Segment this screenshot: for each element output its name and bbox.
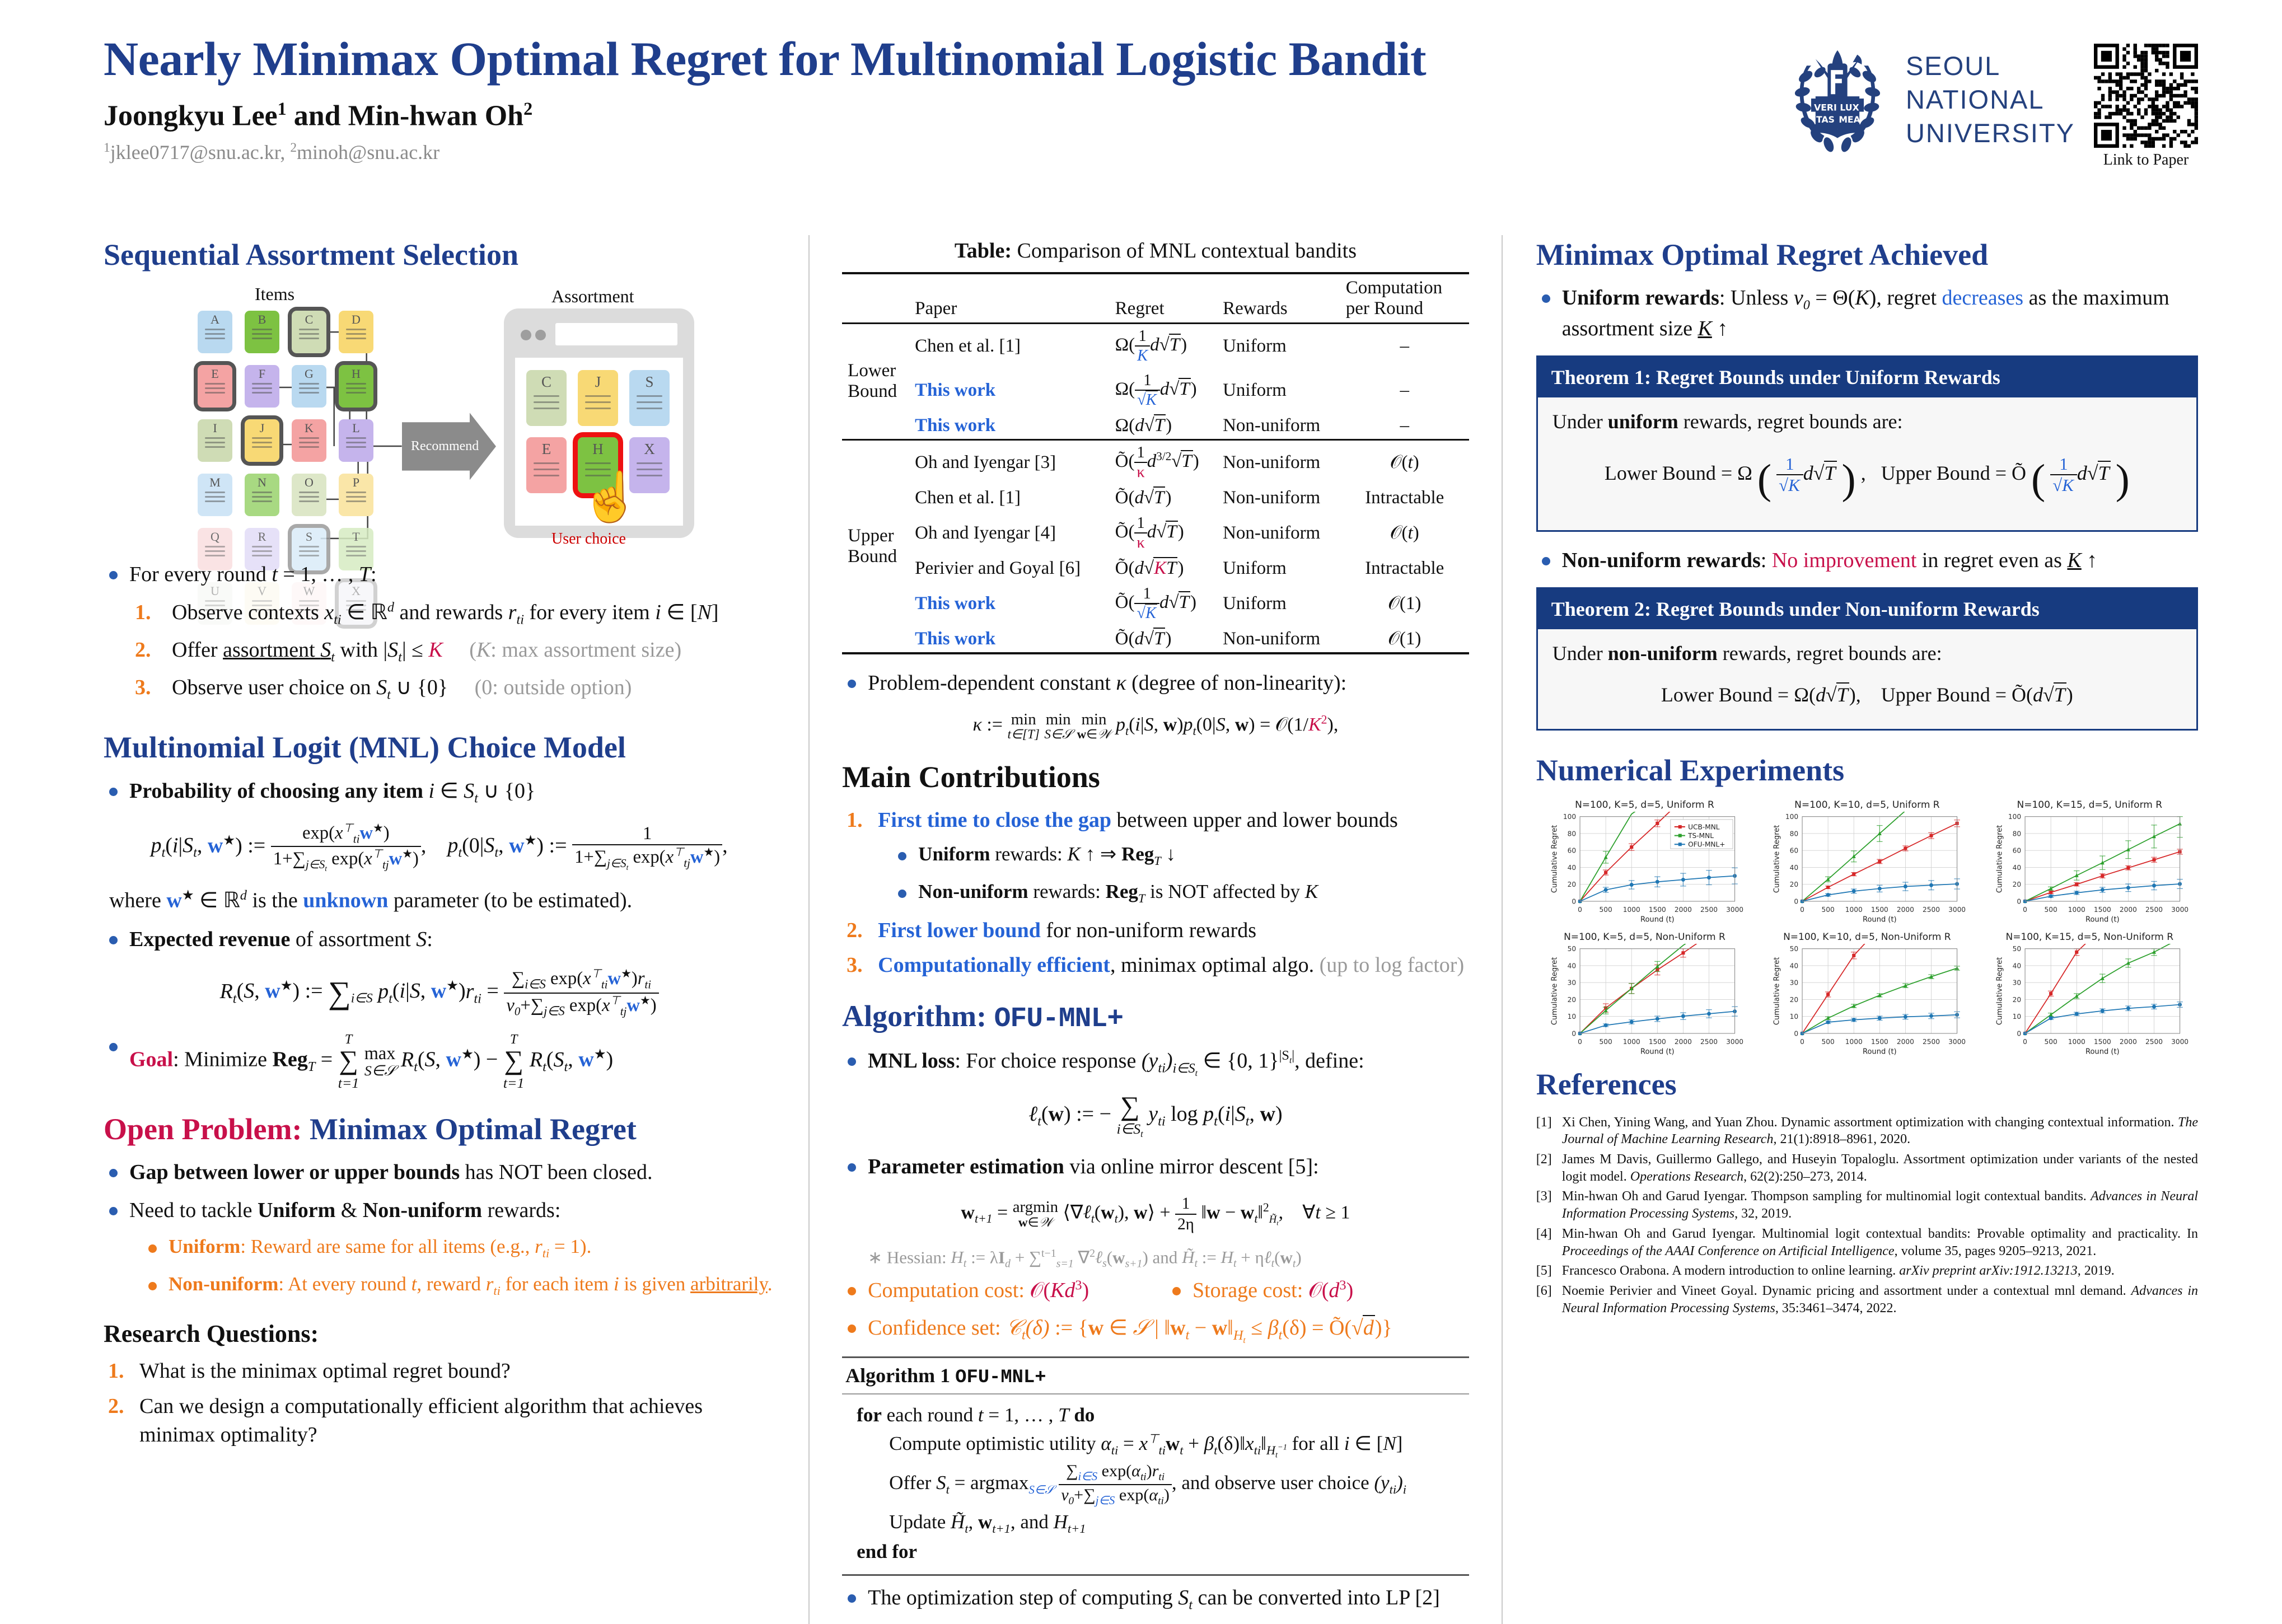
item-card-letter: O [305,476,314,489]
svg-text:3000: 3000 [2171,1038,2189,1046]
storage-cost-list: Storage cost: 𝒪(d3) [1167,1276,1469,1314]
item-card-line [346,500,366,502]
svg-text:1500: 1500 [2093,1038,2111,1046]
algorithm-box-title: Algorithm 1 OFU-MNL+ [842,1358,1469,1394]
svg-text:0: 0 [1578,1038,1582,1046]
computation-cost-list: Computation cost: 𝒪(Kd3) [842,1276,1144,1314]
cell-regret: Õ(d√T) [1110,626,1217,653]
item-card-line [299,492,319,493]
item-card-line [346,338,366,339]
item-card-line [299,392,319,394]
table-row: This work Õ(1√Kd√T) Uniform 𝒪(1) [842,582,1469,626]
hessian-note: ∗ Hessian: Ht := λId + ∑t−1s=1 ∇2ℓs(ws+1… [842,1247,1469,1271]
chart-panel: N=100, K=15, d=5, Non-Uniform R 01020304… [1981,932,2198,1056]
snu-logo: VERILUX TASMEA [1783,44,2075,156]
phone-dot-1 [521,330,531,340]
item-card-line [252,496,272,498]
svg-text:2500: 2500 [2145,1038,2163,1046]
round-step-item: Offer assortment St with |St| ≤ K (K: ma… [130,636,775,667]
item-card-line [299,442,319,443]
item-card-line [205,550,225,552]
svg-text:3000: 3000 [2171,906,2189,914]
chart-series [1801,944,1957,1035]
cell-regret: Ω(d√T) [1110,413,1217,440]
svg-text:2500: 2500 [1923,1038,1940,1046]
qr-caption: Link to Paper [2103,151,2189,169]
mnl-where-text: where w★ ∈ ℝd is the unknown parameter (… [104,887,775,913]
svg-text:Round (t): Round (t) [1863,1048,1897,1056]
open-problem-bullet-1: Gap between lower or upper bounds has NO… [104,1158,775,1187]
item-card-letter: K [305,422,314,434]
item-card-line [299,546,319,547]
table-header-regret: Regret [1110,273,1217,323]
svg-text:0: 0 [2023,1038,2027,1046]
svg-text:1000: 1000 [1845,1038,1863,1046]
item-card-line [346,383,366,385]
table-row: This work Ω(d√T) Non-uniform – [842,413,1469,440]
cell-rewards: Non-uniform [1217,511,1340,555]
svg-text:Round (t): Round (t) [1640,1048,1675,1056]
svg-text:VERI: VERI [1814,102,1837,113]
theorem-1-lead: Under uniform rewards, regret bounds are… [1552,410,2182,433]
table-row: Chen et al. [1] Õ(d√T) Non-uniform Intra… [842,485,1469,511]
item-card-letter: S [306,531,312,543]
algorithm-pseudocode-box: Algorithm 1 OFU-MNL+ for each round t = … [842,1356,1469,1576]
diagram-label-items: Items [255,284,294,305]
theorem-2-body: Under non-uniform rewards, regret bounds… [1538,629,2196,729]
assortment-card-line [534,408,559,409]
assortment-card-line [534,469,559,470]
item-card-line [299,437,319,439]
svg-text:20: 20 [1790,996,1798,1004]
table-caption: Table: Comparison of MNL contextual band… [842,238,1469,263]
assortment-card[interactable]: E [526,437,567,493]
logo-line-1: SEOUL [1906,49,2075,83]
svg-text:3000: 3000 [1726,906,1743,914]
reference-item: [6]Noemie Perivier and Vineet Goyal. Dyn… [1536,1283,2198,1317]
item-card-line [205,446,225,448]
section-title-main-contributions: Main Contributions [842,761,1469,794]
svg-text:Round (t): Round (t) [1640,916,1675,924]
item-card-letter: A [211,313,219,326]
contributions-list: First time to close the gap between uppe… [842,806,1469,980]
cell-rewards: Uniform [1217,555,1340,582]
svg-text:80: 80 [1567,830,1575,837]
chart-svg: 020406080100050010001500200025003000Roun… [1536,812,1753,924]
svg-text:40: 40 [1790,864,1798,872]
kappa-bullet: Problem-dependent constant κ (degree of … [842,669,1469,698]
chart-svg: 01020304050050010001500200025003000Round… [1981,944,2198,1056]
item-card-line [252,550,272,552]
header-text-block: Nearly Minimax Optimal Regret for Multin… [104,34,1783,164]
assortment-card[interactable]: J [578,370,618,426]
reference-item: [4]Min-hwan Oh and Garud Iyengar. Multin… [1536,1225,2198,1260]
section-title-references: References [1536,1068,2198,1101]
item-card-line [205,437,225,439]
item-card-line [346,446,366,448]
svg-text:Cumulative Regret: Cumulative Regret [1550,825,1559,893]
section-title-open-problem: Open Problem: Minimax Optimal Regret [104,1113,775,1146]
item-card-line [252,446,272,448]
table-body-upper-bound: UpperBound Oh and Iyengar [3] Õ(1κd3/2√T… [842,439,1469,653]
table-row: LowerBound Chen et al. [1] Ω(1Kd√T) Unif… [842,323,1469,368]
reference-number: [4] [1536,1225,1552,1243]
poster-header: Nearly Minimax Optimal Regret for Multin… [0,0,2282,235]
logo-line-3: UNIVERSITY [1906,116,2075,150]
item-card-letter: C [305,313,314,326]
cell-computation: 𝒪(1) [1340,626,1469,653]
column-left: Sequential Assortment Selection Items As… [104,235,808,1624]
formula-kappa: κ := mint∈[T] minS∈𝒮 minw∈𝒲 pt(i|S, w)pt… [842,710,1469,742]
nonuniform-rewards-list: Non-uniform rewards: No improvement in r… [1536,546,2198,575]
cell-computation: 𝒪(t) [1340,439,1469,484]
item-card[interactable]: J [245,419,279,462]
assortment-card-letter: J [595,373,601,391]
chart-title: N=100, K=10, d=5, Non-Uniform R [1759,932,1975,943]
item-card[interactable]: P [339,474,373,516]
research-question-item: What is the minimax optimal regret bound… [104,1357,775,1386]
item-card-line [346,442,366,443]
cell-paper: Chen et al. [1] [909,323,1109,368]
svg-text:1500: 1500 [1649,1038,1666,1046]
chart-series [1578,868,1737,903]
cell-computation: – [1340,323,1469,368]
table-header-row: Paper Regret Rewards Computation per Rou… [842,273,1469,323]
item-card-line [299,329,319,330]
item-card-line [205,329,225,330]
contribution-item: First lower bound for non-uniform reward… [842,916,1469,945]
svg-text:30: 30 [2012,979,2021,987]
table-header-paper: Paper [909,273,1109,323]
svg-text:0: 0 [1794,1030,1799,1038]
item-card-line [205,442,225,443]
confidence-set-list: Confidence set: 𝒞t(δ) := {w ∈ 𝒮 | ‖wt − … [842,1314,1469,1346]
svg-text:UCB-MNL: UCB-MNL [1688,823,1720,831]
item-card-line [299,387,319,389]
item-card-line [346,550,366,552]
item-card[interactable]: C [292,311,326,353]
theorem-1-body: Under uniform rewards, regret bounds are… [1538,397,2196,530]
table-row: This work Õ(d√T) Non-uniform 𝒪(1) [842,626,1469,653]
chart-series [2023,944,2180,1035]
svg-text:60: 60 [1567,847,1575,855]
item-card-line [299,333,319,335]
comparison-table: Paper Regret Rewards Computation per Rou… [842,272,1469,654]
formula-choice-probabilities: pt(i|St, w★) := exp(x⊤tiw★)1+∑j∈St exp(x… [104,821,775,874]
cell-regret: Õ(d√T) [1110,485,1217,511]
item-card-letter: J [260,422,265,434]
cell-computation: 𝒪(1) [1340,582,1469,626]
cell-paper: This work [909,626,1109,653]
item-card-line [252,437,272,439]
algorithm-title-name: OFU-MNL+ [994,1003,1123,1035]
alg-line-offer: Offer St = argmaxS∈𝒮 ∑i∈S exp(αti)rtiv0+… [857,1461,1466,1508]
chart-svg: 01020304050050010001500200025003000Round… [1536,944,1753,1056]
item-card[interactable]: N [245,474,279,516]
lp-note-bullet: The optimization step of computing St ca… [842,1584,1469,1614]
assortment-card-letter: S [645,373,653,391]
chart-series [2023,849,2183,903]
formula-mnl-loss: ℓt(w) := − ∑i∈St yti log pt(i|St, w) [842,1093,1469,1139]
cell-paper: This work [909,368,1109,413]
svg-text:0: 0 [1572,1030,1576,1038]
assortment-card-line [637,408,662,409]
svg-text:1000: 1000 [1622,906,1640,914]
cell-rewards: Non-uniform [1217,413,1340,440]
theorem-2-box: Theorem 2: Regret Bounds under Non-unifo… [1536,587,2198,731]
item-card[interactable]: D [339,311,373,353]
theorem-1-bounds: Lower Bound = Ω ( 1√Kd√T ) , Upper Bound… [1552,448,2182,511]
cell-paper: Oh and Iyengar [4] [909,511,1109,555]
reference-number: [2] [1536,1151,1552,1168]
item-card[interactable]: A [198,311,232,353]
item-card-line [299,446,319,448]
cell-rewards: Non-uniform [1217,485,1340,511]
svg-text:OFU-MNL+: OFU-MNL+ [1688,841,1725,849]
chart-panel: N=100, K=10, d=5, Non-Uniform R 01020304… [1759,932,1975,1056]
item-card-line [205,496,225,498]
alg-line-endfor: end for [857,1538,1466,1566]
item-card[interactable]: M [198,474,232,516]
section-title-sequential-assortment: Sequential Assortment Selection [104,238,775,272]
cell-regret: Õ(1√Kd√T) [1110,582,1217,626]
algorithm-box-name: OFU-MNL+ [955,1367,1046,1388]
cell-regret: Õ(1κd√T) [1110,511,1217,555]
item-card-line [346,329,366,330]
svg-text:Round (t): Round (t) [2085,916,2120,924]
svg-text:20: 20 [2012,881,2021,888]
alg-line-update: Update H̃t, wt+1, and Ht+1 [857,1508,1466,1538]
item-card-letter: L [352,422,359,434]
svg-text:1500: 1500 [2093,906,2111,914]
theorem-1-box: Theorem 1: Regret Bounds under Uniform R… [1536,355,2198,532]
assortment-card-line [637,462,662,464]
item-card-letter: F [259,368,265,380]
param-estimation-bullet-list: Parameter estimation via online mirror d… [842,1153,1469,1181]
svg-text:Cumulative Regret: Cumulative Regret [1550,957,1559,1025]
item-card-letter: Q [211,531,219,543]
qr-code-block[interactable]: Link to Paper [2094,44,2198,169]
item-card-line [299,500,319,502]
item-card-line [299,496,319,498]
reward-types-list: Uniform: Reward are same for all items (… [143,1234,775,1299]
item-card[interactable]: G [292,365,326,408]
item-card-line [299,550,319,552]
user-choice-label: User choice [551,530,626,548]
theorem-2-title: Theorem 2: Regret Bounds under Non-unifo… [1538,589,2196,629]
item-card-line [346,492,366,493]
assortment-diagram: Items Assortment A [104,284,775,553]
qr-code-icon[interactable] [2094,44,2198,148]
round-bullet: For every round t = 1, … , T: [104,560,775,589]
alg-line-for: for each round t = 1, … , T do [857,1401,1466,1430]
item-card-line [252,500,272,502]
svg-text:20: 20 [2012,996,2021,1004]
storage-cost-bullet: Storage cost: 𝒪(d3) [1167,1276,1469,1305]
item-card[interactable]: L [339,419,373,462]
item-card[interactable]: E [198,365,232,408]
svg-text:10: 10 [2012,1013,2021,1021]
reference-list: [1]Xi Chen, Yining Wang, and Yuan Zhou. … [1536,1114,2198,1317]
assortment-card-letter: E [542,441,551,458]
cell-paper: Perivier and Goyal [6] [909,555,1109,582]
svg-text:0: 0 [1800,1038,1804,1046]
table-head: Paper Regret Rewards Computation per Rou… [842,273,1469,323]
svg-text:1000: 1000 [1845,906,1863,914]
diagram-label-assortment: Assortment [551,286,634,307]
experiment-chart-grid: N=100, K=5, d=5, Uniform R 0204060801000… [1536,799,2198,1056]
item-card-letter: B [258,313,266,326]
svg-text:40: 40 [2012,864,2021,872]
section-title-numerical-experiments: Numerical Experiments [1536,754,2198,787]
svg-text:40: 40 [1567,962,1575,970]
expected-revenue-bullet: Expected revenue of assortment S: [104,925,775,954]
svg-text:60: 60 [2012,847,2021,855]
item-card-line [299,555,319,556]
svg-text:Cumulative Regret: Cumulative Regret [1773,957,1781,1025]
cell-paper: Chen et al. [1] [909,485,1109,511]
item-card-line [346,546,366,547]
table-group-label: LowerBound [842,323,909,439]
cell-rewards: Uniform [1217,323,1340,368]
table-header-computation: Computation per Round [1340,273,1469,323]
open-problem-bullet-2: Need to tackle Uniform & Non-uniform rew… [104,1196,775,1225]
chart-title: N=100, K=5, d=5, Uniform R [1536,799,1753,811]
cell-computation: Intractable [1340,555,1469,582]
svg-text:1000: 1000 [1622,1038,1640,1046]
table-caption-bold: Table: [955,239,1012,263]
svg-text:2500: 2500 [1700,1038,1718,1046]
svg-text:1500: 1500 [1649,906,1666,914]
item-card-line [252,333,272,335]
section-title-mnl-model: Multinomial Logit (MNL) Choice Model [104,731,775,764]
svg-text:2000: 2000 [2120,1038,2137,1046]
algorithm-title-prefix: Algorithm: [842,999,994,1033]
cell-regret: Õ(1κd3/2√T) [1110,439,1217,484]
svg-text:TS-MNL: TS-MNL [1687,832,1714,840]
contribution-sub-item: Uniform rewards: K ↑ ⇒ RegT ↓ [892,841,1469,869]
reference-item: [5]Francesco Orabona. A modern introduct… [1536,1262,2198,1280]
svg-text:30: 30 [1567,979,1575,987]
cell-computation: – [1340,413,1469,440]
svg-text:Cumulative Regret: Cumulative Regret [1773,825,1781,893]
confidence-set-bullet: Confidence set: 𝒞t(δ) := {w ∈ 𝒮 | ‖wt − … [842,1314,1469,1346]
svg-text:500: 500 [2044,906,2057,914]
algorithm-box-number: Algorithm 1 [845,1364,955,1387]
assortment-card-line [585,395,611,397]
table-row: Oh and Iyengar [4] Õ(1κd√T) Non-uniform … [842,511,1469,555]
item-card-line [346,437,366,439]
item-card-line [205,555,225,556]
open-problem-list: Gap between lower or upper bounds has NO… [104,1158,775,1224]
svg-text:LUX: LUX [1840,102,1859,113]
chart-title: N=100, K=15, d=5, Non-Uniform R [1981,932,2198,943]
assortment-card-line [534,401,559,403]
assortment-card[interactable]: S [629,370,670,426]
table-row: UpperBound Oh and Iyengar [3] Õ(1κd3/2√T… [842,439,1469,484]
table-group-label: UpperBound [842,439,909,653]
item-card-line [252,383,272,385]
svg-text:1500: 1500 [1871,1038,1888,1046]
cell-paper: This work [909,413,1109,440]
param-estimation-bullet: Parameter estimation via online mirror d… [842,1153,1469,1181]
item-card[interactable]: K [292,419,326,462]
reference-number: [3] [1536,1188,1552,1205]
svg-text:30: 30 [1790,979,1798,987]
page-title: Nearly Minimax Optimal Regret for Multin… [104,34,1783,84]
assortment-card-line [637,395,662,397]
table-body-lower-bound: LowerBound Chen et al. [1] Ω(1Kd√T) Unif… [842,323,1469,439]
svg-text:0: 0 [1794,898,1799,906]
contribution-sublist: Uniform rewards: K ↑ ⇒ RegT ↓Non-uniform… [892,841,1469,907]
cell-computation: 𝒪(t) [1340,511,1469,555]
uniform-rewards-list: Uniform rewards: Unless v0 = Θ(K), regre… [1536,284,2198,343]
chart-series [1578,1007,1737,1035]
research-questions-title: Research Questions: [104,1319,775,1348]
mnl-prob-bullet: Probability of choosing any item i ∈ St … [104,777,775,808]
item-card[interactable]: I [198,419,232,462]
item-card-line [205,546,225,547]
item-card[interactable]: H [339,365,373,408]
svg-text:50: 50 [1567,945,1575,953]
assortment-card-letter: X [644,441,655,458]
poster-columns: Sequential Assortment Selection Items As… [0,235,2282,1624]
item-card[interactable]: O [292,474,326,516]
chart-panel: N=100, K=5, d=5, Non-Uniform R 010203040… [1536,932,1753,1056]
column-right: Minimax Optimal Regret Achieved Uniform … [1503,235,2198,1624]
theorem-1-title: Theorem 1: Regret Bounds under Uniform R… [1538,357,2196,397]
svg-text:Round (t): Round (t) [2085,1048,2120,1056]
logo-line-2: NATIONAL [1906,83,2075,116]
svg-text:3000: 3000 [1726,1038,1743,1046]
svg-text:500: 500 [2044,1038,2057,1046]
item-card-line [205,383,225,385]
round-steps-list: Observe contexts xti ∈ ℝd and rewards rt… [130,598,775,705]
svg-text:0: 0 [2017,1030,2021,1038]
open-problem-suffix: Minimax Optimal Regret [302,1112,636,1146]
item-card-line [346,392,366,394]
chart-title: N=100, K=5, d=5, Non-Uniform R [1536,932,1753,943]
assortment-card-line [585,462,611,464]
svg-text:Cumulative Regret: Cumulative Regret [1995,957,2004,1025]
assortment-card-line [534,475,559,476]
svg-text:500: 500 [1822,1038,1835,1046]
chart-svg: 01020304050050010001500200025003000Round… [1759,944,1975,1056]
svg-text:3000: 3000 [1948,906,1966,914]
assortment-card[interactable]: C [526,370,567,426]
svg-text:2500: 2500 [2145,906,2163,914]
svg-text:20: 20 [1790,881,1798,888]
pointing-hand-icon: ☝ [581,469,640,525]
svg-text:40: 40 [2012,962,2021,970]
item-card-line [252,546,272,547]
svg-text:0: 0 [1572,898,1576,906]
chart-panel: N=100, K=5, d=5, Uniform R 0204060801000… [1536,799,1753,924]
item-card[interactable]: F [245,365,279,408]
nonuniform-rewards-bullet: Non-uniform rewards: No improvement in r… [1536,546,2198,575]
poster-root: Nearly Minimax Optimal Regret for Multin… [0,0,2282,1612]
phone-dot-2 [535,330,546,340]
item-card[interactable]: B [245,311,279,353]
item-card-line [205,387,225,389]
chart-series [2023,1002,2182,1036]
svg-text:2000: 2000 [1675,906,1692,914]
table-header-rewards: Rewards [1217,273,1340,323]
kappa-bullet-list: Problem-dependent constant κ (degree of … [842,669,1469,698]
svg-text:2000: 2000 [1897,1038,1914,1046]
svg-text:50: 50 [1790,945,1798,953]
header-logos: VERILUX TASMEA [1783,34,2198,169]
